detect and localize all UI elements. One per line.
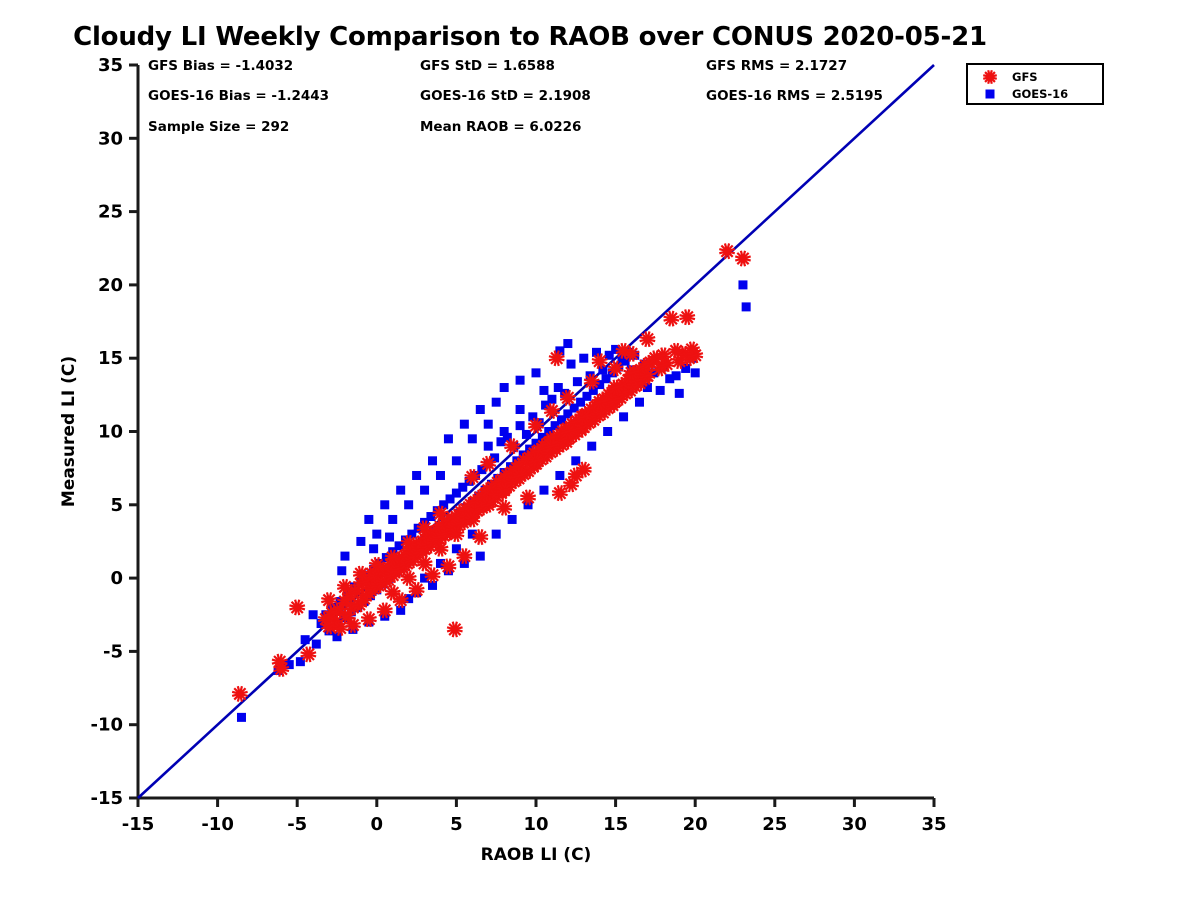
gfs-point [680, 309, 695, 324]
x-tick-label: 35 [921, 814, 946, 835]
goes16-point [492, 530, 501, 539]
goes16-point [547, 395, 556, 404]
one-to-one-line [138, 65, 934, 798]
y-tick-label: 0 [110, 568, 123, 589]
gfs-point [735, 251, 750, 266]
goes16-point [675, 389, 684, 398]
y-tick-label: -5 [103, 641, 123, 662]
goes16-point [500, 427, 509, 436]
gfs-marker-icon [968, 69, 1012, 85]
goes16-point [385, 533, 394, 542]
reference-line [138, 65, 934, 798]
y-axis-title: Measured LI (C) [59, 356, 79, 507]
goes16-point [301, 635, 310, 644]
x-tick-label: 5 [450, 814, 463, 835]
goes16-point [484, 420, 493, 429]
goes16-point [672, 371, 681, 380]
goes16-point [532, 368, 541, 377]
y-tick-label: 20 [98, 275, 123, 296]
x-tick-label: -10 [201, 814, 234, 835]
x-tick-label: 25 [762, 814, 787, 835]
goes16-point [635, 398, 644, 407]
x-tick-label: -15 [122, 814, 155, 835]
x-axis-title: RAOB LI (C) [481, 845, 592, 865]
goes16-point [500, 383, 509, 392]
goes16-point [598, 365, 607, 374]
gfs-point [664, 311, 679, 326]
goes16-point [412, 471, 421, 480]
gfs-point [289, 600, 304, 615]
y-tick-label: 15 [98, 348, 123, 369]
goes16-point [337, 566, 346, 575]
x-tick-label: 0 [371, 814, 384, 835]
y-tick-label: 10 [98, 422, 123, 443]
goes16-point [619, 412, 628, 421]
y-tick-label: -10 [90, 715, 123, 736]
data-points [232, 243, 751, 721]
goes16-point [484, 442, 493, 451]
x-tick-label: 15 [603, 814, 628, 835]
goes16-point [396, 486, 405, 495]
goes16-point [428, 581, 437, 590]
goes16-point [388, 515, 397, 524]
x-tick-label: -5 [287, 814, 307, 835]
goes16-point [592, 348, 601, 357]
legend-label: GFS [1012, 70, 1038, 84]
gfs-point [232, 686, 247, 701]
gfs-point [301, 647, 316, 662]
goes16-point [587, 442, 596, 451]
goes16-point [356, 537, 365, 546]
gfs-point [496, 500, 511, 515]
goes16-point [579, 354, 588, 363]
goes16-point [380, 500, 389, 509]
goes16-point [986, 90, 995, 99]
goes16-point [444, 434, 453, 443]
gfs-point [447, 622, 462, 637]
goes16-point [404, 500, 413, 509]
goes16-point [567, 360, 576, 369]
y-tick-label: 5 [110, 495, 123, 516]
goes16-point [563, 339, 572, 348]
goes16-point [516, 376, 525, 385]
y-tick-label: 30 [98, 128, 123, 149]
goes16-point [508, 515, 517, 524]
y-tick-label: -15 [90, 788, 123, 809]
goes16-point [468, 434, 477, 443]
goes16-point [738, 280, 747, 289]
goes16-point [340, 552, 349, 561]
goes16-marker-icon [968, 86, 1012, 102]
goes16-point [742, 302, 751, 311]
goes16-point [603, 427, 612, 436]
gfs-point [481, 456, 496, 471]
goes16-point [420, 486, 429, 495]
goes16-point [476, 405, 485, 414]
gfs-point [983, 70, 997, 84]
goes16-point [460, 420, 469, 429]
scatter-plot: -15-10-505101520253035-15-10-50510152025… [0, 0, 1200, 900]
goes16-point [333, 632, 342, 641]
goes16-point [396, 606, 405, 615]
goes16-point [369, 544, 378, 553]
gfs-point [640, 331, 655, 346]
gfs-point [552, 485, 567, 500]
goes16-point [516, 405, 525, 414]
goes16-point [555, 471, 564, 480]
goes16-point [364, 515, 373, 524]
goes16-point [452, 456, 461, 465]
goes16-point [476, 552, 485, 561]
y-tick-label: 35 [98, 55, 123, 76]
legend-goes16[interactable]: GOES-16 [968, 85, 1068, 103]
goes16-point [691, 368, 700, 377]
goes16-point [372, 530, 381, 539]
x-tick-label: 10 [523, 814, 548, 835]
goes16-point [522, 430, 531, 439]
goes16-point [492, 398, 501, 407]
goes16-point [436, 471, 445, 480]
goes16-point [516, 421, 525, 430]
goes16-point [656, 386, 665, 395]
legend-gfs[interactable]: GFS [968, 68, 1038, 86]
chart-page: Cloudy LI Weekly Comparison to RAOB over… [0, 0, 1200, 900]
goes16-point [573, 377, 582, 386]
legend-label: GOES-16 [1012, 87, 1068, 101]
x-tick-label: 20 [683, 814, 708, 835]
goes16-point [539, 486, 548, 495]
goes16-point [312, 640, 321, 649]
goes16-point [309, 610, 318, 619]
goes16-point [539, 386, 548, 395]
goes16-point [428, 456, 437, 465]
y-tick-label: 25 [98, 202, 123, 223]
legend[interactable]: GFSGOES-16 [966, 63, 1104, 105]
goes16-point [237, 713, 246, 722]
x-tick-label: 30 [842, 814, 867, 835]
